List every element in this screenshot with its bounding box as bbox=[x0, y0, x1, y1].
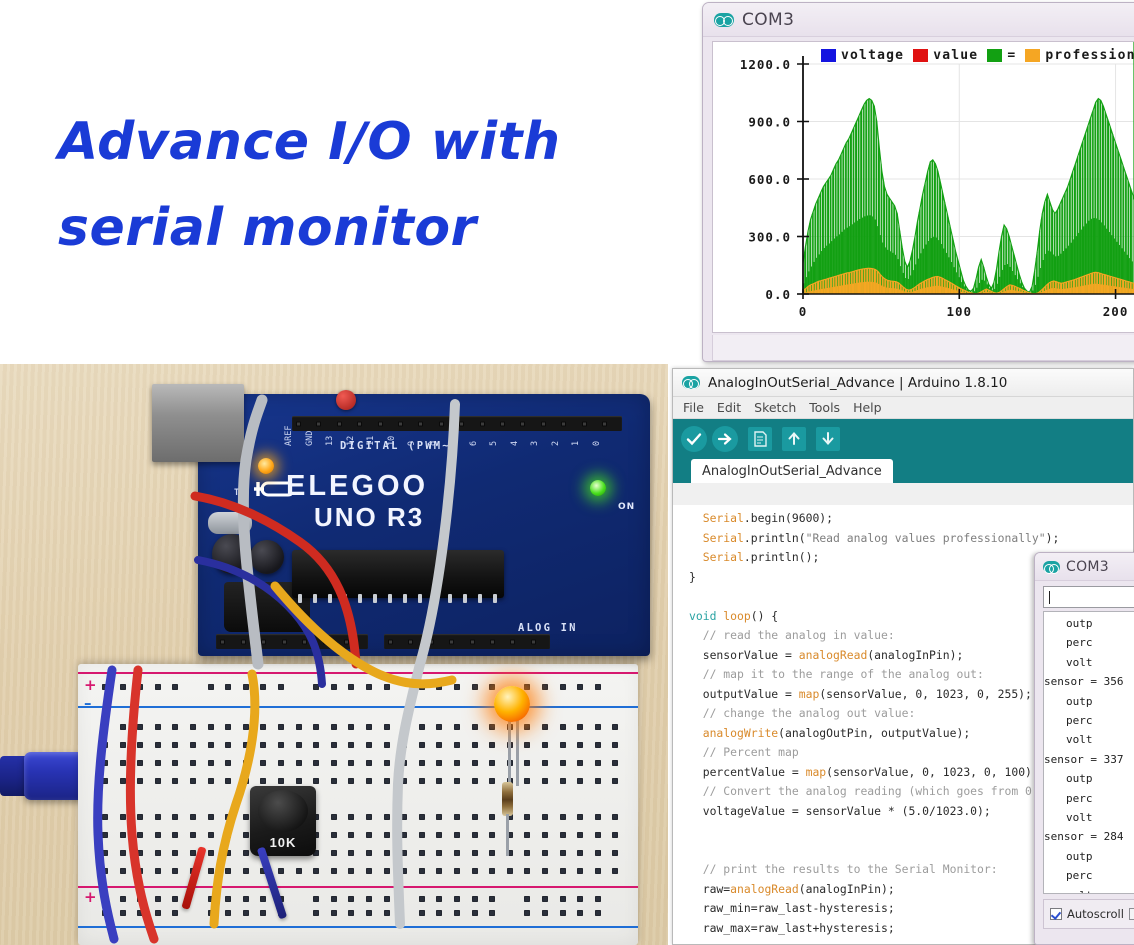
breadboard-hole bbox=[172, 724, 178, 730]
serial-output-line: perc bbox=[1044, 866, 1134, 885]
legend-label: professional bbox=[1045, 48, 1134, 63]
breadboard-hole bbox=[577, 742, 583, 748]
menu-item-sketch[interactable]: Sketch bbox=[754, 400, 796, 415]
breadboard-hole bbox=[120, 760, 126, 766]
breadboard-hole bbox=[208, 910, 214, 916]
serial-monitor-window[interactable]: COM3 outppercvoltsensor = 356outppercvol… bbox=[1034, 552, 1134, 945]
breadboard-hole bbox=[208, 814, 214, 820]
ic-pin bbox=[358, 594, 362, 603]
breadboard-hole bbox=[137, 850, 143, 856]
breadboard-hole bbox=[313, 760, 319, 766]
breadboard-hole bbox=[472, 850, 478, 856]
breadboard-hole bbox=[384, 684, 390, 690]
breadboard-hole bbox=[331, 684, 337, 690]
breadboard-hole bbox=[208, 896, 214, 902]
header-hole bbox=[241, 639, 246, 644]
breadboard-hole bbox=[190, 724, 196, 730]
breadboard-hole bbox=[595, 724, 601, 730]
breadboard-hole bbox=[155, 850, 161, 856]
breadboard-hole bbox=[225, 832, 231, 838]
breadboard-hole bbox=[313, 724, 319, 730]
breadboard-hole bbox=[542, 724, 548, 730]
serial-monitor-titlebar[interactable]: COM3 bbox=[1035, 553, 1134, 581]
breadboard-hole bbox=[296, 778, 302, 784]
breadboard-hole bbox=[401, 850, 407, 856]
ide-window-title: AnalogInOutSerial_Advance | Arduino 1.8.… bbox=[708, 375, 1007, 391]
breadboard-hole bbox=[120, 832, 126, 838]
breadboard-hole bbox=[384, 896, 390, 902]
breadboard-hole bbox=[524, 684, 530, 690]
serial-monitor-footer[interactable]: Autoscroll bbox=[1043, 899, 1134, 929]
menu-item-tools[interactable]: Tools bbox=[809, 400, 840, 415]
breadboard-hole bbox=[489, 868, 495, 874]
breadboard-hole bbox=[419, 850, 425, 856]
breadboard-hole bbox=[260, 684, 266, 690]
ic-pin bbox=[388, 594, 392, 603]
header-hole bbox=[459, 421, 464, 426]
header-hole bbox=[602, 421, 607, 426]
digital-pin-header bbox=[292, 416, 622, 431]
breadboard-hole bbox=[612, 814, 618, 820]
header-hole bbox=[302, 639, 307, 644]
breadboard-hole bbox=[577, 814, 583, 820]
breadboard-hole bbox=[155, 724, 161, 730]
breadboard-hole bbox=[120, 814, 126, 820]
header-hole bbox=[261, 639, 266, 644]
breadboard-hole bbox=[243, 814, 249, 820]
autoscroll-label: Autoscroll bbox=[1067, 907, 1124, 921]
breadboard-hole bbox=[595, 760, 601, 766]
ide-tabstrip[interactable]: AnalogInOutSerial_Advance bbox=[673, 459, 1133, 483]
legend-label: value bbox=[933, 48, 978, 63]
open-button[interactable] bbox=[782, 427, 806, 451]
breadboard-hole bbox=[102, 814, 108, 820]
breadboard-hole bbox=[243, 832, 249, 838]
breadboard-hole bbox=[577, 778, 583, 784]
breadboard-hole bbox=[401, 760, 407, 766]
power-led-label: ON bbox=[618, 502, 635, 512]
resistor bbox=[502, 782, 513, 816]
pin-label: GND bbox=[305, 431, 315, 446]
breadboard-hole bbox=[278, 778, 284, 784]
potentiometer[interactable]: 10K bbox=[250, 786, 316, 856]
breadboard-hole bbox=[577, 760, 583, 766]
breadboard-hole bbox=[612, 742, 618, 748]
serial-plotter-titlebar[interactable]: COM3 bbox=[703, 3, 1134, 37]
header-hole bbox=[510, 639, 515, 644]
breadboard-hole bbox=[472, 724, 478, 730]
breadboard-hole bbox=[595, 778, 601, 784]
breadboard-hole bbox=[137, 684, 143, 690]
breadboard-hole bbox=[348, 868, 354, 874]
potentiometer-knob[interactable] bbox=[258, 790, 308, 832]
breadboard-hole bbox=[102, 868, 108, 874]
breadboard-hole bbox=[155, 868, 161, 874]
breadboard-hole bbox=[190, 832, 196, 838]
breadboard-hole bbox=[208, 832, 214, 838]
header-hole bbox=[439, 421, 444, 426]
breadboard-hole bbox=[225, 684, 231, 690]
breadboard-hole bbox=[401, 724, 407, 730]
breadboard-hole bbox=[507, 868, 513, 874]
breadboard-hole bbox=[419, 868, 425, 874]
header-hole bbox=[323, 639, 328, 644]
breadboard-hole bbox=[577, 724, 583, 730]
breadboard-hole bbox=[595, 896, 601, 902]
digital-header-label: DIGITAL (PWM~) bbox=[340, 440, 459, 452]
x-tick-label: 200 bbox=[1103, 304, 1129, 319]
show-timestamp-checkbox[interactable] bbox=[1129, 908, 1134, 920]
breadboard-hole bbox=[542, 742, 548, 748]
breadboard-hole bbox=[542, 850, 548, 856]
led-leg-anode bbox=[508, 720, 511, 786]
pin-label: 9 bbox=[407, 441, 417, 446]
breadboard-hole bbox=[137, 760, 143, 766]
breadboard-hole bbox=[137, 814, 143, 820]
breadboard-hole bbox=[102, 910, 108, 916]
tx-led bbox=[258, 458, 274, 474]
header-hole bbox=[296, 421, 301, 426]
breadboard-hole bbox=[577, 910, 583, 916]
breadboard-hole bbox=[366, 850, 372, 856]
breadboard-hole bbox=[454, 760, 460, 766]
breadboard-hole bbox=[208, 742, 214, 748]
breadboard-hole bbox=[102, 724, 108, 730]
breadboard-hole bbox=[313, 742, 319, 748]
breadboard-hole bbox=[577, 850, 583, 856]
breadboard-hole bbox=[348, 814, 354, 820]
breadboard-hole bbox=[331, 742, 337, 748]
breadboard-hole bbox=[172, 778, 178, 784]
pin-label: 5 bbox=[489, 441, 499, 446]
breadboard-hole bbox=[384, 778, 390, 784]
breadboard-hole bbox=[524, 742, 530, 748]
ic-pin bbox=[463, 594, 467, 603]
header-hole bbox=[220, 639, 225, 644]
serial-output-line: volt bbox=[1044, 886, 1134, 894]
breadboard-hole bbox=[348, 742, 354, 748]
breadboard-hole bbox=[595, 910, 601, 916]
breadboard-hole bbox=[419, 814, 425, 820]
breadboard-hole bbox=[612, 724, 618, 730]
breadboard-hole bbox=[331, 760, 337, 766]
pin-label: 0 bbox=[592, 441, 602, 446]
breadboard-hole bbox=[560, 868, 566, 874]
breadboard-hole bbox=[296, 760, 302, 766]
menu-item-file[interactable]: File bbox=[683, 400, 704, 415]
breadboard-hole bbox=[208, 724, 214, 730]
reset-button[interactable] bbox=[336, 390, 356, 410]
breadboard-hole bbox=[243, 896, 249, 902]
header-hole bbox=[378, 421, 383, 426]
serial-output-line: sensor = 356 bbox=[1044, 672, 1134, 691]
breadboard-hole bbox=[243, 760, 249, 766]
breadboard-hole bbox=[225, 814, 231, 820]
breadboard-hole bbox=[331, 832, 337, 838]
page-title-line-1: Advance I/O with bbox=[58, 100, 658, 186]
serial-monitor-output[interactable]: outppercvoltsensor = 356outppercvoltsens… bbox=[1043, 611, 1134, 894]
code-line: Serial.begin(9600); bbox=[689, 509, 1134, 529]
breadboard-hole bbox=[208, 850, 214, 856]
breadboard-hole bbox=[137, 868, 143, 874]
header-hole bbox=[531, 639, 536, 644]
breadboard-hole bbox=[560, 760, 566, 766]
breadboard-hole bbox=[102, 896, 108, 902]
breadboard-hole bbox=[278, 742, 284, 748]
breadboard-hole bbox=[366, 868, 372, 874]
led-indicator bbox=[494, 686, 530, 722]
ic-pin bbox=[418, 594, 422, 603]
breadboard-hole bbox=[612, 778, 618, 784]
serial-output-line: perc bbox=[1044, 789, 1134, 808]
breadboard-hole bbox=[120, 896, 126, 902]
breadboard-hole bbox=[489, 814, 495, 820]
header-hole bbox=[449, 639, 454, 644]
x-tick-label: 0 bbox=[799, 304, 808, 319]
breadboard-hole bbox=[472, 778, 478, 784]
chart-series-value bbox=[803, 42, 1134, 294]
breadboard-hole bbox=[172, 760, 178, 766]
breadboard-hole bbox=[524, 724, 530, 730]
breadboard-hole bbox=[542, 896, 548, 902]
arduino-logo-icon bbox=[714, 13, 734, 27]
breadboard-hole bbox=[366, 760, 372, 766]
breadboard-hole bbox=[296, 742, 302, 748]
breadboard-hole bbox=[331, 910, 337, 916]
breadboard-hole bbox=[366, 724, 372, 730]
breadboard-hole bbox=[436, 910, 442, 916]
breadboard-hole bbox=[384, 832, 390, 838]
breadboard-hole bbox=[172, 910, 178, 916]
breadboard-hole bbox=[560, 850, 566, 856]
analog-pin-header bbox=[384, 634, 550, 649]
breadboard-hole bbox=[313, 868, 319, 874]
breadboard-hole bbox=[225, 850, 231, 856]
serial-monitor-send-input[interactable] bbox=[1043, 586, 1134, 608]
ic-pin bbox=[343, 594, 347, 603]
breadboard-hole bbox=[489, 724, 495, 730]
breadboard-hole bbox=[137, 896, 143, 902]
power-pin-header bbox=[216, 634, 368, 649]
breadboard-hole bbox=[260, 778, 266, 784]
electrolytic-capacitor-2 bbox=[250, 540, 284, 574]
breadboard-hole bbox=[120, 778, 126, 784]
header-hole bbox=[470, 639, 475, 644]
menu-item-edit[interactable]: Edit bbox=[717, 400, 741, 415]
breadboard-hole bbox=[472, 814, 478, 820]
electrolytic-capacitor-1 bbox=[212, 534, 252, 574]
pin-label: 7 bbox=[448, 441, 458, 446]
breadboard-hole bbox=[489, 832, 495, 838]
breadboard-hole bbox=[190, 760, 196, 766]
hardware-photo: + – + 10K ELEGOO UNO R3 DIGITAL ( bbox=[0, 364, 668, 945]
pin-label: 8 bbox=[428, 441, 438, 446]
breadboard-hole bbox=[225, 868, 231, 874]
breadboard-hole bbox=[172, 684, 178, 690]
breadboard-hole bbox=[612, 760, 618, 766]
breadboard-hole bbox=[454, 814, 460, 820]
upload-button[interactable] bbox=[712, 426, 738, 452]
breadboard-hole bbox=[384, 850, 390, 856]
breadboard-hole bbox=[348, 832, 354, 838]
ic-pin bbox=[403, 594, 407, 603]
menu-item-help[interactable]: Help bbox=[853, 400, 882, 415]
breadboard-hole bbox=[137, 778, 143, 784]
serial-output-line: outp bbox=[1044, 614, 1134, 633]
ide-titlebar[interactable]: AnalogInOutSerial_Advance | Arduino 1.8.… bbox=[673, 369, 1133, 397]
breadboard-hole bbox=[472, 684, 478, 690]
breadboard-hole bbox=[102, 832, 108, 838]
breadboard-hole bbox=[137, 742, 143, 748]
breadboard-hole bbox=[260, 896, 266, 902]
breadboard-hole bbox=[436, 724, 442, 730]
tab-analoginoutserial-advance[interactable]: AnalogInOutSerial_Advance bbox=[691, 459, 893, 483]
breadboard-hole bbox=[172, 850, 178, 856]
breadboard-hole bbox=[331, 724, 337, 730]
breadboard-hole bbox=[172, 814, 178, 820]
serial-output-line: volt bbox=[1044, 730, 1134, 749]
header-hole bbox=[408, 639, 413, 644]
breadboard-hole bbox=[243, 684, 249, 690]
breadboard-hole bbox=[436, 896, 442, 902]
breadboard-hole bbox=[225, 742, 231, 748]
breadboard-hole bbox=[296, 868, 302, 874]
ic-pin bbox=[478, 594, 482, 603]
breadboard-hole bbox=[102, 760, 108, 766]
breadboard-hole bbox=[595, 742, 601, 748]
breadboard-hole bbox=[243, 778, 249, 784]
power-led bbox=[590, 480, 606, 496]
header-hole bbox=[344, 639, 349, 644]
header-hole bbox=[541, 421, 546, 426]
pin-label: 6 bbox=[469, 441, 479, 446]
serial-output-line: volt bbox=[1044, 808, 1134, 827]
resistor-leg bbox=[506, 814, 509, 856]
breadboard-hole bbox=[560, 910, 566, 916]
breadboard-hole bbox=[542, 910, 548, 916]
breadboard-hole bbox=[436, 814, 442, 820]
breadboard-hole bbox=[155, 832, 161, 838]
breadboard-hole bbox=[384, 742, 390, 748]
breadboard-hole bbox=[366, 896, 372, 902]
header-hole bbox=[480, 421, 485, 426]
y-tick-label: 0.0 bbox=[765, 287, 791, 302]
breadboard-hole bbox=[542, 684, 548, 690]
breadboard-hole bbox=[278, 684, 284, 690]
breadboard-hole bbox=[155, 778, 161, 784]
breadboard-hole bbox=[313, 896, 319, 902]
breadboard-hole bbox=[120, 910, 126, 916]
breadboard-hole bbox=[524, 910, 530, 916]
arduino-uno-board: ELEGOO UNO R3 DIGITAL (PWM~) ALOG IN ON … bbox=[198, 394, 650, 656]
breadboard-hole bbox=[436, 832, 442, 838]
breadboard-hole bbox=[260, 724, 266, 730]
serial-monitor-title: COM3 bbox=[1066, 559, 1109, 575]
code-line: Serial.println("Read analog values profe… bbox=[689, 529, 1134, 549]
breadboard-hole bbox=[454, 896, 460, 902]
save-button[interactable] bbox=[816, 427, 840, 451]
serial-plotter-canvas: voltagevalue=professional 1200.0900.0600… bbox=[712, 41, 1134, 333]
breadboard-hole bbox=[348, 910, 354, 916]
breadboard-hole bbox=[384, 724, 390, 730]
breadboard-hole bbox=[190, 778, 196, 784]
breadboard-hole bbox=[366, 832, 372, 838]
breadboard-hole bbox=[208, 684, 214, 690]
breadboard-hole bbox=[454, 832, 460, 838]
breadboard-hole bbox=[260, 760, 266, 766]
breadboard-hole bbox=[454, 850, 460, 856]
arduino-logo-icon bbox=[1043, 561, 1060, 573]
breadboard-hole bbox=[524, 760, 530, 766]
ide-toolbar[interactable] bbox=[673, 419, 1133, 459]
autoscroll-checkbox[interactable] bbox=[1050, 908, 1062, 920]
breadboard-hole bbox=[419, 742, 425, 748]
breadboard-hole bbox=[472, 760, 478, 766]
breadboard-hole bbox=[190, 742, 196, 748]
breadboard-hole bbox=[155, 814, 161, 820]
breadboard-hole bbox=[102, 850, 108, 856]
legend-swatch bbox=[1025, 49, 1040, 62]
breadboard-hole bbox=[208, 868, 214, 874]
text-caret bbox=[1049, 591, 1050, 604]
breadboard-hole bbox=[366, 910, 372, 916]
legend-swatch bbox=[821, 49, 836, 62]
y-tick-label: 300.0 bbox=[748, 230, 791, 245]
breadboard-hole bbox=[436, 760, 442, 766]
breadboard-hole bbox=[172, 868, 178, 874]
breadboard-hole bbox=[612, 868, 618, 874]
breadboard-hole bbox=[331, 850, 337, 856]
breadboard-hole bbox=[384, 814, 390, 820]
new-button[interactable] bbox=[748, 427, 772, 451]
breadboard-hole bbox=[472, 910, 478, 916]
breadboard-hole bbox=[243, 868, 249, 874]
y-tick-label: 900.0 bbox=[748, 115, 791, 130]
breadboard-hole bbox=[472, 896, 478, 902]
breadboard-hole bbox=[419, 684, 425, 690]
pin-label: 2 bbox=[551, 441, 561, 446]
arduino-logo-icon bbox=[682, 376, 700, 389]
breadboard-hole bbox=[155, 896, 161, 902]
breadboard-hole bbox=[366, 778, 372, 784]
pin-label: 1 bbox=[571, 441, 581, 446]
board-brand-label: ELEGOO bbox=[286, 470, 428, 503]
serial-plotter-window[interactable]: COM3 voltagevalue=professional 1200.0900… bbox=[702, 2, 1134, 362]
breadboard-hole bbox=[472, 742, 478, 748]
breadboard-hole bbox=[348, 850, 354, 856]
crystal-oscillator bbox=[208, 512, 252, 534]
breadboard-hole bbox=[472, 832, 478, 838]
ic-pin bbox=[313, 594, 317, 603]
breadboard-hole bbox=[102, 684, 108, 690]
breadboard-hole bbox=[225, 910, 231, 916]
breadboard-hole bbox=[190, 814, 196, 820]
breadboard-hole bbox=[612, 850, 618, 856]
pin-label: 11 bbox=[366, 436, 376, 446]
header-hole bbox=[282, 639, 287, 644]
verify-button[interactable] bbox=[681, 426, 707, 452]
pin-label: 3 bbox=[530, 441, 540, 446]
ide-menubar[interactable]: FileEditSketchToolsHelp bbox=[673, 397, 1133, 419]
breadboard-hole bbox=[489, 760, 495, 766]
x-tick-label: 100 bbox=[946, 304, 972, 319]
serial-output-line: outp bbox=[1044, 769, 1134, 788]
serial-output-line: outp bbox=[1044, 847, 1134, 866]
breadboard-hole bbox=[419, 760, 425, 766]
breadboard-hole bbox=[419, 910, 425, 916]
led-leg-cathode bbox=[516, 720, 519, 786]
breadboard-hole bbox=[436, 868, 442, 874]
